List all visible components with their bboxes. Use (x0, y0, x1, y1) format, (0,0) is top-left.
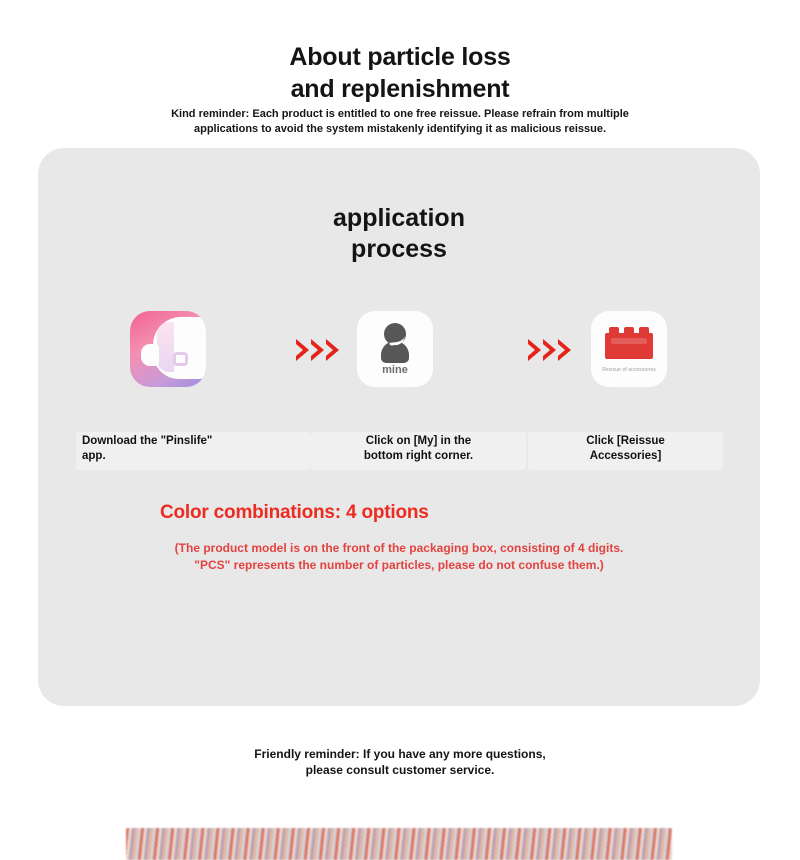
mine-icon-label: mine (357, 364, 433, 376)
step-2-icon-slot[interactable]: mine (357, 311, 433, 387)
step-1-caption: Download the "Pinslife" app. (76, 432, 311, 470)
lego-brick-icon (605, 333, 653, 359)
chevron-right-icon (311, 339, 324, 361)
step-1-icon-slot[interactable] (130, 311, 206, 387)
product-model-note: (The product model is on the front of th… (38, 540, 760, 574)
brick-highlight (611, 338, 647, 344)
footer-friendly-reminder: Friendly reminder: If you have any more … (0, 746, 800, 778)
step-3-caption: Click [Reissue Accessories] (528, 432, 723, 470)
steps-caption-row: Download the "Pinslife" app. Click on [M… (38, 432, 760, 474)
reissue-icon-label: Reissue of accessories (591, 367, 667, 373)
application-process-card: application process mine (38, 148, 760, 706)
chevron-right-icon (558, 339, 571, 361)
kind-reminder-note: Kind reminder: Each product is entitled … (0, 107, 800, 136)
page-title: About particle loss and replenishment (0, 42, 800, 106)
chevron-right-icon (296, 339, 309, 361)
chevron-right-icon (326, 339, 339, 361)
earcup-shape (141, 344, 159, 366)
chevron-right-icon-group-1 (296, 339, 339, 361)
visor-shape (157, 322, 174, 372)
color-combination-label: Color combinations: 4 options (160, 502, 429, 524)
steps-icon-row: mine Reissue of accessories (38, 311, 760, 397)
brick-stud (609, 327, 619, 334)
section-title: application process (38, 203, 760, 266)
brick-stud (639, 327, 649, 334)
step-2-caption: Click on [My] in the bottom right corner… (311, 432, 526, 470)
pinslife-app-icon[interactable] (130, 311, 206, 387)
mine-profile-icon[interactable]: mine (357, 311, 433, 387)
step-3-icon-slot[interactable]: Reissue of accessories (591, 311, 667, 387)
chevron-right-icon (543, 339, 556, 361)
color-swatch-strip-image (126, 828, 672, 860)
brick-stud (624, 327, 634, 334)
reissue-brick-icon[interactable]: Reissue of accessories (591, 311, 667, 387)
knob-shape (173, 352, 188, 366)
chevron-right-icon (528, 339, 541, 361)
chevron-right-icon-group-2 (528, 339, 571, 361)
color-combination-banner: Color combinations: 4 options (38, 488, 760, 528)
